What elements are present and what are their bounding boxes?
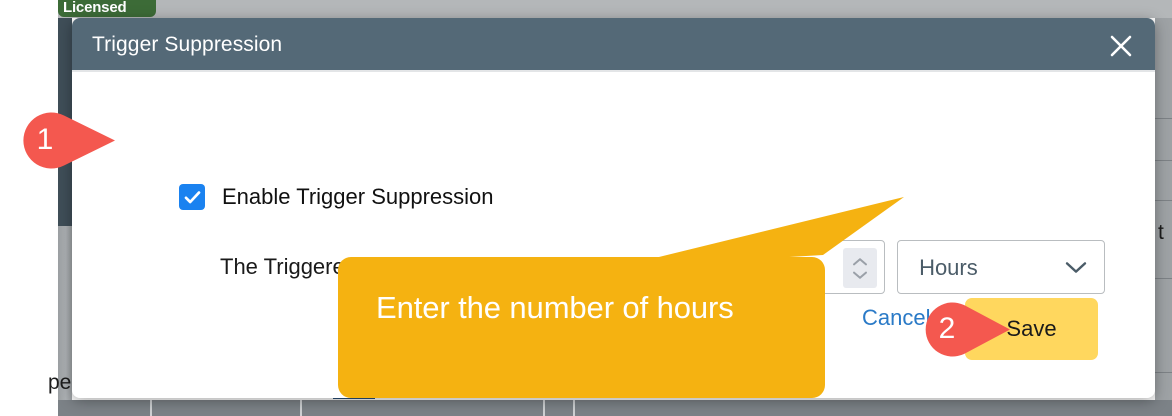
background-right-strip xyxy=(1155,18,1172,416)
chevron-down-icon xyxy=(851,270,869,280)
step-2-label: 2 xyxy=(918,314,976,344)
background-table-cell xyxy=(543,400,573,416)
check-icon xyxy=(183,188,202,207)
background-top-band xyxy=(58,0,1172,18)
background-table-cell xyxy=(300,400,450,416)
enable-trigger-suppression-checkbox[interactable] xyxy=(179,184,205,210)
callout-enter-hours: Enter the number of hours xyxy=(338,257,825,398)
enable-trigger-suppression-label: Enable Trigger Suppression xyxy=(222,184,494,210)
background-row-divider xyxy=(1155,160,1172,161)
close-icon[interactable] xyxy=(1105,30,1137,62)
background-table-cell xyxy=(573,400,598,416)
background-row-divider xyxy=(1155,278,1172,279)
background-row-divider xyxy=(1155,200,1172,201)
screenshot-root: Licensed t pe Trigger Suppression xyxy=(0,0,1172,416)
background-row-divider xyxy=(1155,118,1172,119)
interval-unit-value: Hours xyxy=(919,253,978,283)
step-1-pointer: 1 xyxy=(14,112,118,169)
background-table-cell xyxy=(150,400,300,416)
dialog-titlebar: Trigger Suppression xyxy=(72,18,1155,72)
chevron-down-icon xyxy=(1064,260,1088,275)
background-left-text: pe xyxy=(48,372,71,393)
licensed-badge: Licensed xyxy=(58,0,156,17)
enable-trigger-suppression-row: Enable Trigger Suppression xyxy=(179,184,494,210)
background-right-text: t xyxy=(1158,222,1164,243)
callout-text: Enter the number of hours xyxy=(376,283,776,332)
step-2-pointer: 2 xyxy=(918,302,1012,357)
background-row-divider xyxy=(1155,372,1172,373)
dialog-title: Trigger Suppression xyxy=(92,33,282,57)
step-1-label: 1 xyxy=(14,125,76,155)
interval-unit-select[interactable]: Hours xyxy=(897,240,1105,294)
